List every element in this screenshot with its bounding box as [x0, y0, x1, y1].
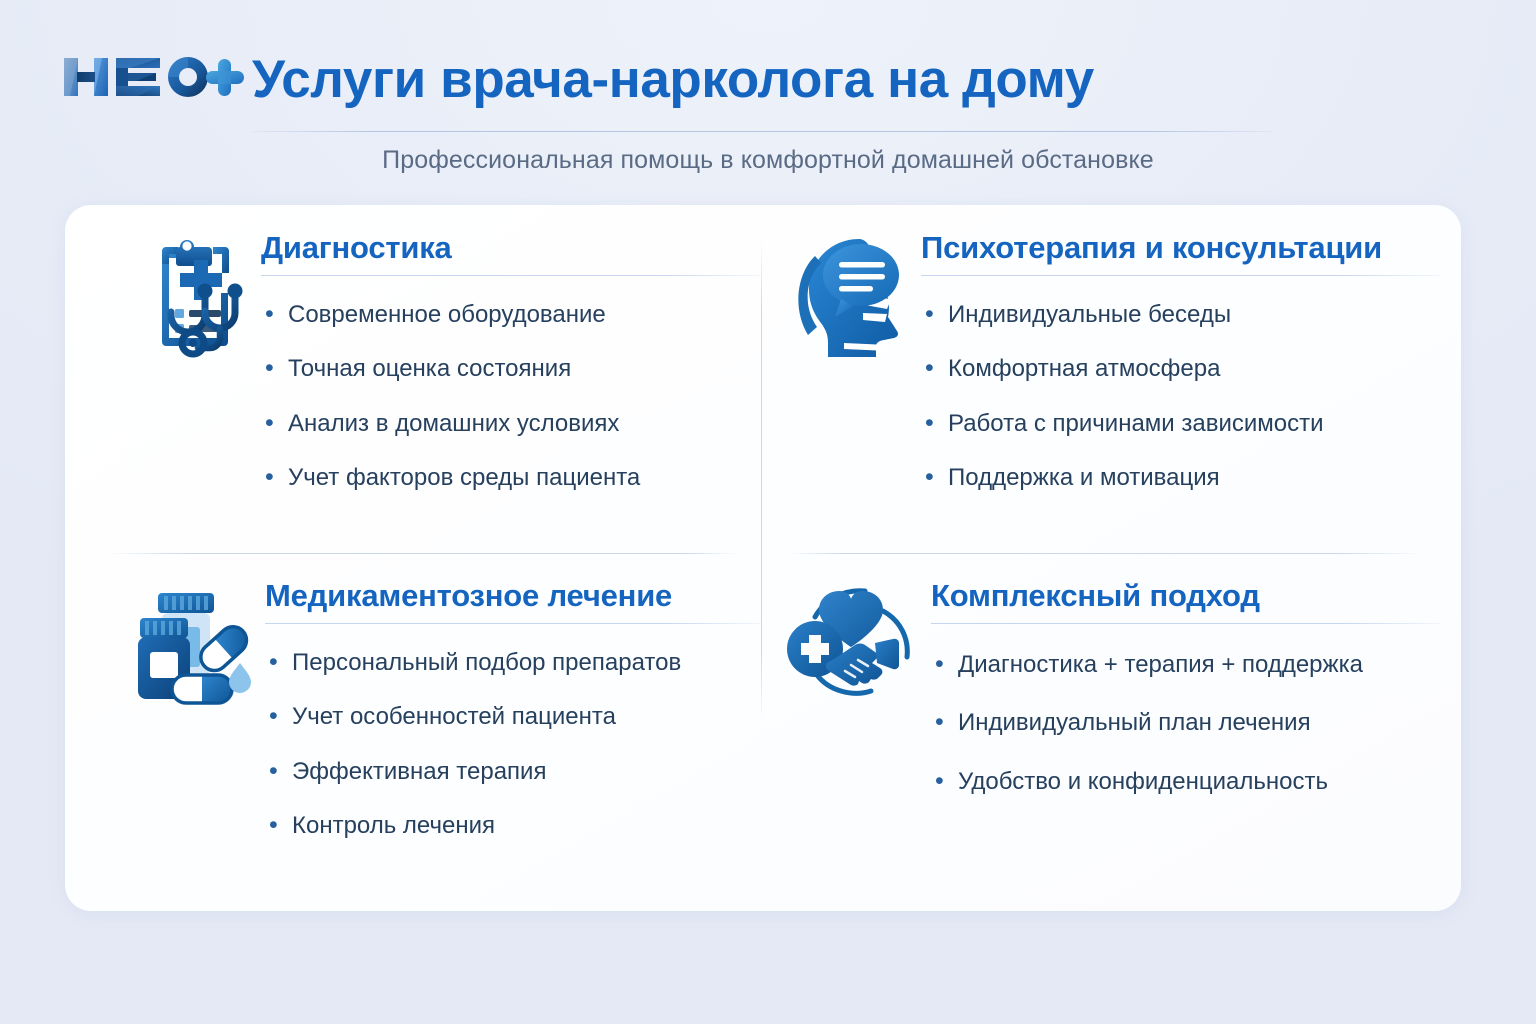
card-title-underline	[265, 623, 761, 624]
card-title-underline	[261, 275, 761, 276]
card-title: Психотерапия и консультации	[921, 229, 1441, 266]
list-item: Учет особенностей пациента	[265, 702, 761, 732]
page-title: Услуги врача-нарколога на дому	[252, 50, 1094, 111]
quadrant-divider-horizontal	[110, 553, 1416, 554]
card-title: Комплексный подход	[931, 577, 1441, 614]
page-header: Услуги врача-нарколога на дому Профессио…	[0, 0, 1536, 192]
list-item: Персональный подбор препаратов	[265, 648, 761, 678]
list-item: Учет факторов среды пациента	[261, 463, 761, 493]
page-subtitle: Профессиональная помощь в комфортной дом…	[0, 146, 1536, 175]
list-item: Современное оборудование	[261, 300, 761, 330]
list-item: Комфортная атмосфера	[921, 354, 1441, 384]
card-title: Диагностика	[261, 229, 761, 266]
list-item: Удобство и конфиденциальность	[931, 767, 1441, 797]
neo-plus-logo	[58, 46, 248, 108]
services-panel: Диагностика Современное оборудование Точ…	[65, 205, 1461, 911]
service-card-psychotherapy: Психотерапия и консультации Индивидуальн…	[781, 225, 1441, 545]
list-item: Индивидуальные беседы	[921, 300, 1441, 330]
clipboard-stethoscope-icon	[125, 225, 261, 545]
card-title-underline	[931, 623, 1441, 624]
list-item: Диагностика + терапия + поддержка	[931, 650, 1441, 680]
list-item: Поддержка и мотивация	[921, 463, 1441, 493]
service-card-medication: Медикаментозное лечение Персональный под…	[115, 573, 761, 893]
header-divider	[252, 131, 1272, 132]
card-title: Медикаментозное лечение	[265, 577, 761, 614]
service-card-comprehensive: Комплексный подход Диагностика + терапия…	[773, 573, 1441, 873]
list-item: Индивидуальный план лечения	[931, 708, 1441, 738]
list-item: Контроль лечения	[265, 811, 761, 841]
card-bullet-list: Персональный подбор препаратов Учет особ…	[265, 648, 761, 841]
card-bullet-list: Современное оборудование Точная оценка с…	[261, 300, 761, 493]
list-item: Точная оценка состояния	[261, 354, 761, 384]
list-item: Работа с причинами зависимости	[921, 409, 1441, 439]
card-bullet-list: Диагностика + терапия + поддержка Индиви…	[931, 650, 1441, 797]
head-speech-bubble-icon	[781, 225, 921, 545]
list-item: Эффективная терапия	[265, 757, 761, 787]
pill-bottles-icon	[115, 573, 265, 893]
quadrant-divider-vertical	[761, 243, 762, 719]
heart-handshake-cross-icon	[773, 573, 931, 873]
service-card-diagnostics: Диагностика Современное оборудование Точ…	[125, 225, 761, 545]
card-title-underline	[921, 275, 1441, 276]
list-item: Анализ в домашних условиях	[261, 409, 761, 439]
card-bullet-list: Индивидуальные беседы Комфортная атмосфе…	[921, 300, 1441, 493]
